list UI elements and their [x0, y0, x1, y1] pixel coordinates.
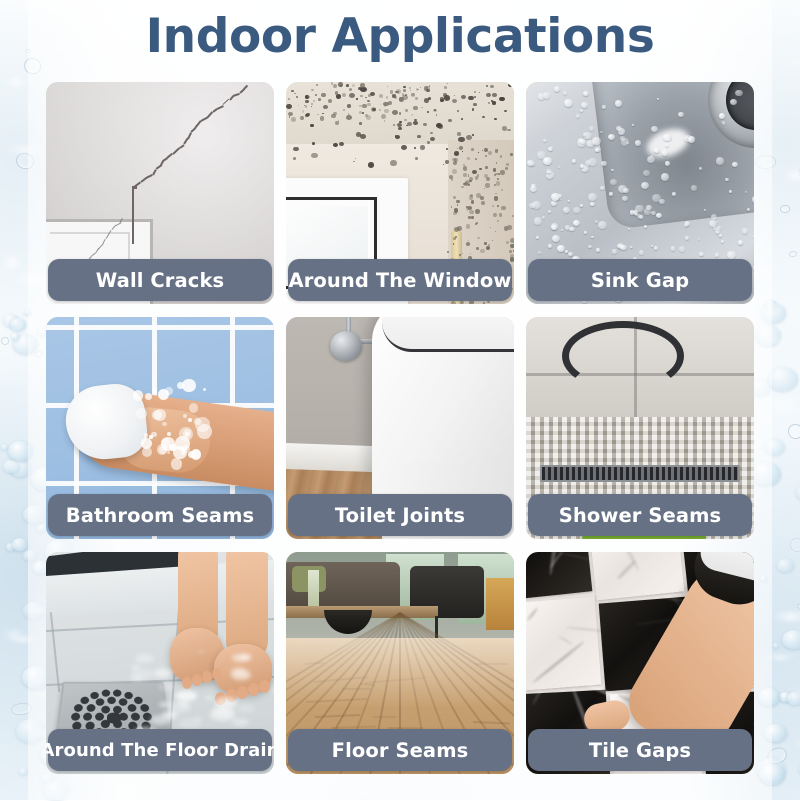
mold-fleck — [416, 88, 419, 91]
mold-fleck — [504, 226, 509, 231]
application-cell-wall-cracks[interactable]: Wall Cracks — [46, 82, 274, 304]
water-bead — [662, 150, 668, 155]
mold-spot — [508, 83, 513, 87]
water-bead — [654, 246, 658, 250]
mold-spot — [492, 101, 496, 104]
mold-fleck — [495, 149, 499, 153]
mold-fleck — [507, 225, 511, 229]
mold-spot — [488, 102, 489, 103]
foam-bubble — [153, 389, 158, 394]
water-bead — [711, 214, 717, 219]
mold-fleck — [480, 249, 485, 254]
mold-spot — [473, 103, 476, 106]
marble-vein — [532, 640, 585, 684]
cell-label-around-the-window: Around The Window — [288, 259, 512, 301]
water-bead — [719, 113, 725, 119]
mold-fleck — [451, 178, 454, 181]
mold-fleck — [471, 216, 474, 219]
mold-fleck — [464, 182, 468, 186]
drain-slot — [83, 713, 92, 721]
water-bead — [633, 210, 638, 215]
water-bead — [615, 100, 623, 107]
mold-fleck — [513, 250, 514, 252]
water-bead — [656, 213, 662, 218]
toe-right-0 — [259, 680, 270, 693]
mold-fleck — [471, 200, 474, 203]
mold-spot — [461, 118, 463, 120]
mold-spot — [440, 99, 444, 102]
toe-right-2 — [237, 686, 248, 699]
water-film — [194, 717, 203, 721]
mold-spot — [479, 168, 482, 170]
mold-fleck — [402, 93, 405, 96]
water-streak — [771, 612, 800, 621]
mold-fleck — [300, 116, 304, 120]
drain-slot — [101, 689, 110, 696]
marble-vein — [527, 607, 539, 622]
mold-spot — [459, 146, 463, 150]
mold-spot — [311, 153, 317, 159]
water-bead — [569, 227, 574, 232]
water-bead — [620, 245, 626, 251]
drain-slot — [113, 689, 122, 696]
mold-spot — [448, 119, 452, 122]
water-blob — [10, 318, 27, 331]
mold-fleck — [451, 301, 456, 304]
water-film — [205, 696, 214, 700]
water-film — [130, 675, 143, 681]
mold-spot — [461, 95, 466, 99]
mold-fleck — [484, 242, 487, 245]
mold-spot — [315, 94, 317, 96]
mold-fleck — [311, 103, 313, 105]
application-cell-floor-seams[interactable]: Floor Seams — [286, 552, 514, 774]
water-film — [154, 668, 173, 677]
mold-fleck — [433, 109, 436, 112]
drain-slot — [140, 704, 149, 712]
water-bead — [672, 192, 676, 196]
mold-spot — [427, 141, 430, 143]
water-bead — [699, 252, 703, 256]
water-streak — [2, 630, 26, 640]
application-cell-tile-gaps[interactable]: Tile Gaps — [526, 552, 754, 774]
mold-fleck — [390, 90, 393, 93]
mold-fleck — [469, 180, 471, 182]
drain-slot — [101, 706, 110, 714]
mold-spot — [347, 104, 351, 107]
foam-bubble — [157, 444, 167, 454]
water-blob — [768, 367, 798, 391]
mold-spot — [479, 92, 480, 93]
toe-right-1 — [248, 683, 259, 696]
water-film — [237, 704, 255, 713]
floor-sheen — [286, 638, 514, 708]
mold-fleck — [509, 250, 512, 253]
cell-label-sink-gap: Sink Gap — [528, 259, 752, 301]
mold-fleck — [456, 200, 460, 204]
water-bead — [588, 193, 597, 201]
water-bead — [543, 139, 547, 143]
water-bead — [601, 161, 606, 166]
cell-label-shower-seams: Shower Seams — [528, 494, 752, 536]
foam-bubble — [182, 379, 195, 392]
mold-spot — [490, 85, 494, 88]
water-bead — [715, 253, 719, 256]
foam-bubble — [203, 388, 206, 391]
mold-spot — [390, 160, 396, 165]
water-bead — [643, 170, 649, 176]
linear-drain — [540, 465, 740, 482]
mold-spot — [486, 85, 488, 87]
mold-spot — [457, 132, 461, 135]
water-bead — [732, 162, 737, 167]
mold-fleck — [396, 89, 401, 94]
toe-left-3 — [182, 677, 192, 689]
water-bead — [551, 193, 559, 200]
water-film — [158, 683, 174, 691]
drain-slot — [81, 697, 90, 704]
mold-spot — [311, 106, 312, 107]
mold-spot — [472, 108, 475, 110]
water-bead — [616, 126, 622, 131]
water-bead — [684, 223, 688, 227]
water-bead — [583, 133, 586, 136]
mold-spot — [486, 93, 491, 97]
mold-spot — [405, 109, 408, 111]
grout-v1 — [50, 612, 60, 692]
drain-slot — [124, 692, 133, 699]
drain-slot — [131, 713, 140, 721]
crack-vertical — [132, 186, 134, 244]
water-streak — [793, 740, 800, 748]
application-cell-bathroom-seams[interactable]: Bathroom Seams — [46, 317, 274, 539]
mold-spot — [293, 147, 298, 151]
water-bead — [735, 90, 742, 97]
water-bead — [557, 245, 565, 252]
water-bead — [551, 200, 557, 206]
mold-fleck — [453, 212, 456, 215]
mold-fleck — [457, 226, 462, 231]
mold-fleck — [505, 167, 508, 170]
marble-vein — [558, 635, 573, 644]
mold-fleck — [348, 114, 350, 116]
water-film — [178, 701, 189, 707]
mold-spot — [499, 97, 505, 102]
mold-fleck — [496, 181, 501, 186]
mold-fleck — [302, 110, 304, 112]
cell-label-bathroom-seams: Bathroom Seams — [48, 494, 272, 536]
water-streak — [783, 171, 800, 180]
water-film — [215, 697, 237, 708]
water-bead — [529, 203, 535, 208]
water-bead — [752, 196, 754, 202]
marble-vein — [616, 560, 636, 580]
drain-slot — [74, 704, 83, 712]
water-blob — [1, 444, 9, 450]
mold-spot — [286, 84, 287, 85]
application-cell-sink-gap[interactable]: Sink Gap — [526, 82, 754, 304]
mold-fleck — [463, 173, 467, 177]
mold-fleck — [510, 254, 514, 258]
water-bead — [685, 236, 689, 239]
droplet-outline — [789, 250, 798, 257]
water-bead — [527, 160, 533, 166]
water-bead — [608, 134, 615, 140]
shower-hose — [562, 321, 684, 391]
mold-fleck — [371, 107, 376, 112]
marble-tile-black — [526, 552, 592, 600]
mold-spot — [424, 98, 429, 102]
cell-label-toilet-joints: Toilet Joints — [288, 494, 512, 536]
water-bead — [558, 166, 560, 168]
mold-spot — [413, 121, 418, 125]
water-film — [231, 670, 251, 680]
mold-fleck — [480, 196, 484, 200]
mold-fleck — [476, 247, 479, 250]
mold-fleck — [384, 109, 388, 113]
cell-label-around-the-floor-drain: Around The Floor Drain — [48, 729, 272, 771]
water-bead — [727, 251, 736, 259]
water-bead — [661, 173, 669, 180]
water-bead — [585, 160, 592, 166]
toe-left-0 — [212, 668, 222, 680]
mold-fleck — [484, 148, 488, 152]
mold-spot — [417, 135, 420, 138]
water-bead — [729, 190, 732, 193]
mold-fleck — [421, 107, 422, 108]
mold-fleck — [307, 96, 309, 98]
mold-fleck — [296, 96, 297, 97]
mold-fleck — [475, 176, 478, 179]
mold-fleck — [475, 209, 480, 214]
mold-fleck — [368, 94, 371, 97]
water-bead — [698, 238, 700, 240]
mold-fleck — [452, 169, 456, 173]
mold-fleck — [399, 97, 402, 100]
mold-spot — [427, 111, 429, 113]
water-bead — [730, 99, 737, 105]
mold-fleck — [469, 195, 474, 200]
water-bead — [554, 86, 560, 92]
water-bead — [753, 264, 754, 271]
mold-spot — [494, 118, 496, 120]
water-bead — [592, 137, 601, 145]
mold-spot — [468, 96, 473, 100]
water-film — [131, 665, 142, 670]
water-bead — [644, 225, 647, 227]
mold-fleck — [475, 223, 477, 225]
water-film — [175, 691, 196, 702]
mold-fleck — [510, 257, 514, 261]
water-blob — [777, 559, 793, 572]
water-bead — [538, 251, 540, 253]
mold-fleck — [360, 83, 365, 88]
mold-spot — [323, 105, 328, 109]
water-bead — [612, 249, 617, 253]
mold-fleck — [477, 237, 479, 239]
water-bead — [721, 240, 724, 243]
mold-fleck — [331, 114, 335, 118]
mold-fleck — [485, 155, 487, 157]
mold-spot — [356, 98, 358, 99]
foam-bubble — [177, 382, 184, 389]
water-bead — [591, 236, 594, 238]
droplet-outline — [787, 535, 800, 553]
water-bead — [573, 207, 580, 214]
mold-fleck — [328, 99, 332, 103]
water-blob — [782, 630, 800, 649]
water-blob — [796, 484, 800, 502]
mold-spot — [368, 162, 374, 167]
application-cell-shower-seams[interactable]: Shower Seams — [526, 317, 754, 539]
mold-fleck — [311, 89, 314, 92]
cell-label-floor-seams: Floor Seams — [288, 729, 512, 771]
water-bead — [576, 114, 580, 117]
water-bead — [622, 196, 628, 202]
mold-fleck — [484, 174, 488, 178]
droplet-outline — [779, 205, 789, 214]
water-bead — [595, 220, 598, 223]
drain-slot — [87, 704, 96, 712]
drain-slot — [107, 697, 116, 704]
mold-fleck — [510, 238, 514, 243]
mold-spot — [286, 104, 292, 109]
mold-fleck — [510, 244, 514, 248]
water-bead — [602, 105, 606, 108]
mold-fleck — [510, 300, 514, 304]
toilet-seat — [382, 317, 514, 352]
mold-fleck — [333, 84, 337, 88]
droplet-outline — [786, 422, 800, 442]
foam-bubble — [133, 390, 143, 400]
mold-fleck — [379, 94, 383, 98]
drain-slot — [96, 699, 105, 706]
mold-spot — [504, 110, 507, 112]
water-bead — [548, 244, 552, 248]
water-blob — [19, 768, 28, 775]
mold-spot — [443, 93, 447, 96]
drain-slot — [71, 713, 81, 721]
mold-fleck — [485, 166, 488, 169]
marble-tile-white — [588, 552, 685, 600]
water-film — [198, 650, 204, 653]
foam-bubble — [165, 387, 173, 395]
mold-spot — [397, 123, 402, 127]
grout-line-h0 — [46, 325, 274, 330]
mold-fleck — [500, 170, 504, 174]
vase — [308, 570, 319, 610]
mold-fleck — [501, 206, 506, 211]
mold-spot — [401, 145, 407, 150]
mold-spot — [360, 134, 366, 139]
mold-spot — [310, 124, 314, 127]
water-bead — [651, 245, 653, 247]
water-bead — [716, 157, 724, 165]
drain-slot — [119, 699, 128, 706]
application-cell-around-the-floor-drain[interactable]: Around The Floor Drain — [46, 552, 274, 774]
mold-fleck — [447, 251, 449, 253]
wood-stool — [486, 578, 514, 630]
mold-spot — [336, 94, 341, 98]
water-bead — [647, 156, 655, 163]
mold-fleck — [467, 157, 470, 160]
mold-fleck — [494, 196, 498, 200]
mold-fleck — [291, 117, 295, 121]
water-film — [210, 708, 235, 721]
mold-fleck — [394, 96, 397, 99]
water-film — [232, 718, 249, 727]
water-bead — [635, 140, 641, 145]
water-bead — [663, 134, 672, 142]
droplet-outline — [796, 603, 800, 610]
mold-fleck — [335, 91, 338, 94]
toe-left-2 — [192, 674, 202, 686]
shutoff-valve — [330, 331, 362, 361]
mold-spot — [398, 127, 401, 130]
water-bead — [596, 248, 600, 252]
water-bead — [534, 217, 542, 224]
drain-slot — [133, 697, 142, 704]
water-bead — [725, 178, 729, 181]
mold-spot — [399, 121, 401, 123]
toe-left-1 — [202, 671, 212, 683]
cell-label-tile-gaps: Tile Gaps — [528, 729, 752, 771]
mold-spot — [502, 126, 508, 131]
foam-bubble — [197, 424, 212, 439]
water-bead — [609, 192, 613, 195]
water-bead — [621, 138, 629, 145]
water-streak — [5, 78, 26, 86]
water-bead — [753, 235, 754, 238]
mold-spot — [491, 100, 493, 101]
water-bead — [639, 250, 644, 254]
water-film — [162, 711, 177, 718]
water-film — [135, 654, 154, 663]
mold-fleck — [415, 97, 418, 100]
application-cell-toilet-joints[interactable]: Toilet Joints — [286, 317, 514, 539]
water-bead — [719, 234, 722, 236]
page-title: Indoor Applications — [0, 9, 800, 64]
application-cell-around-the-window[interactable]: Around The Window — [286, 82, 514, 304]
mold-fleck — [388, 101, 392, 105]
mold-fleck — [498, 173, 499, 174]
water-film — [272, 684, 274, 696]
water-bead — [671, 246, 676, 250]
mold-fleck — [495, 231, 496, 232]
water-bead — [563, 91, 567, 95]
mold-fleck — [492, 205, 494, 207]
mold-fleck — [452, 158, 455, 161]
foam-bubble — [188, 451, 195, 458]
mold-fleck — [469, 210, 474, 215]
marble-vein — [752, 688, 754, 725]
marble-tile-white — [526, 597, 601, 692]
water-bead — [611, 169, 614, 171]
mold-spot — [423, 123, 427, 126]
mold-spot — [482, 116, 485, 118]
mold-fleck — [506, 163, 508, 165]
mold-fleck — [506, 241, 509, 244]
mold-spot — [340, 85, 342, 87]
mold-fleck — [462, 253, 463, 254]
water-bead — [688, 136, 695, 143]
water-bead — [659, 199, 665, 204]
water-bead — [704, 209, 706, 211]
mold-fleck — [470, 253, 471, 254]
drain-center — [107, 713, 121, 724]
mold-fleck — [359, 111, 362, 114]
mold-spot — [466, 135, 472, 140]
